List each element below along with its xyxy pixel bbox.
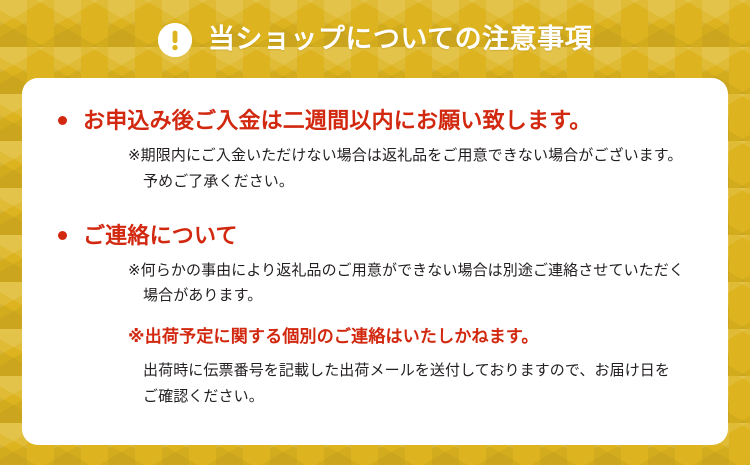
note-line: 場合があります。	[128, 283, 702, 309]
note-line-emphasis: ※出荷予定に関する個別のご連絡はいたしかねます。	[128, 323, 702, 350]
notice-section-contact: ご連絡について ※何らかの事由により返礼品のご用意ができない場合は別途ご連絡させ…	[44, 219, 702, 410]
note-block: ※何らかの事由により返礼品のご用意ができない場合は別途ご連絡させていただく 場合…	[128, 258, 702, 410]
bullet-row: ご連絡について	[44, 219, 702, 252]
note-spacer	[128, 350, 702, 358]
note-line: ※期限内にご入金いただけない場合は返礼品をご用意できない場合がございます。	[128, 143, 702, 169]
notice-card: お申込み後ご入金は二週間以内にお願い致します。 ※期限内にご入金いただけない場合…	[22, 78, 728, 445]
section-heading: ご連絡について	[83, 219, 238, 252]
section-spacer	[44, 197, 702, 219]
note-spacer	[128, 309, 702, 323]
section-heading: お申込み後ご入金は二週間以内にお願い致します。	[83, 104, 591, 137]
bullet-row: お申込み後ご入金は二週間以内にお願い致します。	[44, 104, 702, 137]
page-title: 当ショップについての注意事項	[208, 26, 592, 53]
note-block: ※期限内にご入金いただけない場合は返礼品をご用意できない場合がございます。 予め…	[128, 143, 702, 195]
notice-header: 当ショップについての注意事項	[0, 0, 750, 78]
bullet-dot-icon	[58, 231, 67, 240]
note-line: ※何らかの事由により返礼品のご用意ができない場合は別途ご連絡させていただく	[128, 258, 702, 284]
notice-section-payment: お申込み後ご入金は二週間以内にお願い致します。 ※期限内にご入金いただけない場合…	[44, 104, 702, 195]
shop-notice-panel: 当ショップについての注意事項 お申込み後ご入金は二週間以内にお願い致します。 ※…	[0, 0, 750, 465]
bullet-dot-icon	[58, 116, 67, 125]
note-line: ご確認ください。	[128, 384, 702, 410]
exclamation-circle-icon	[158, 23, 192, 57]
note-line: 予めご了承ください。	[128, 169, 702, 195]
note-line: 出荷時に伝票番号を記載した出荷メールを送付しておりますので、お届け日を	[128, 358, 702, 384]
